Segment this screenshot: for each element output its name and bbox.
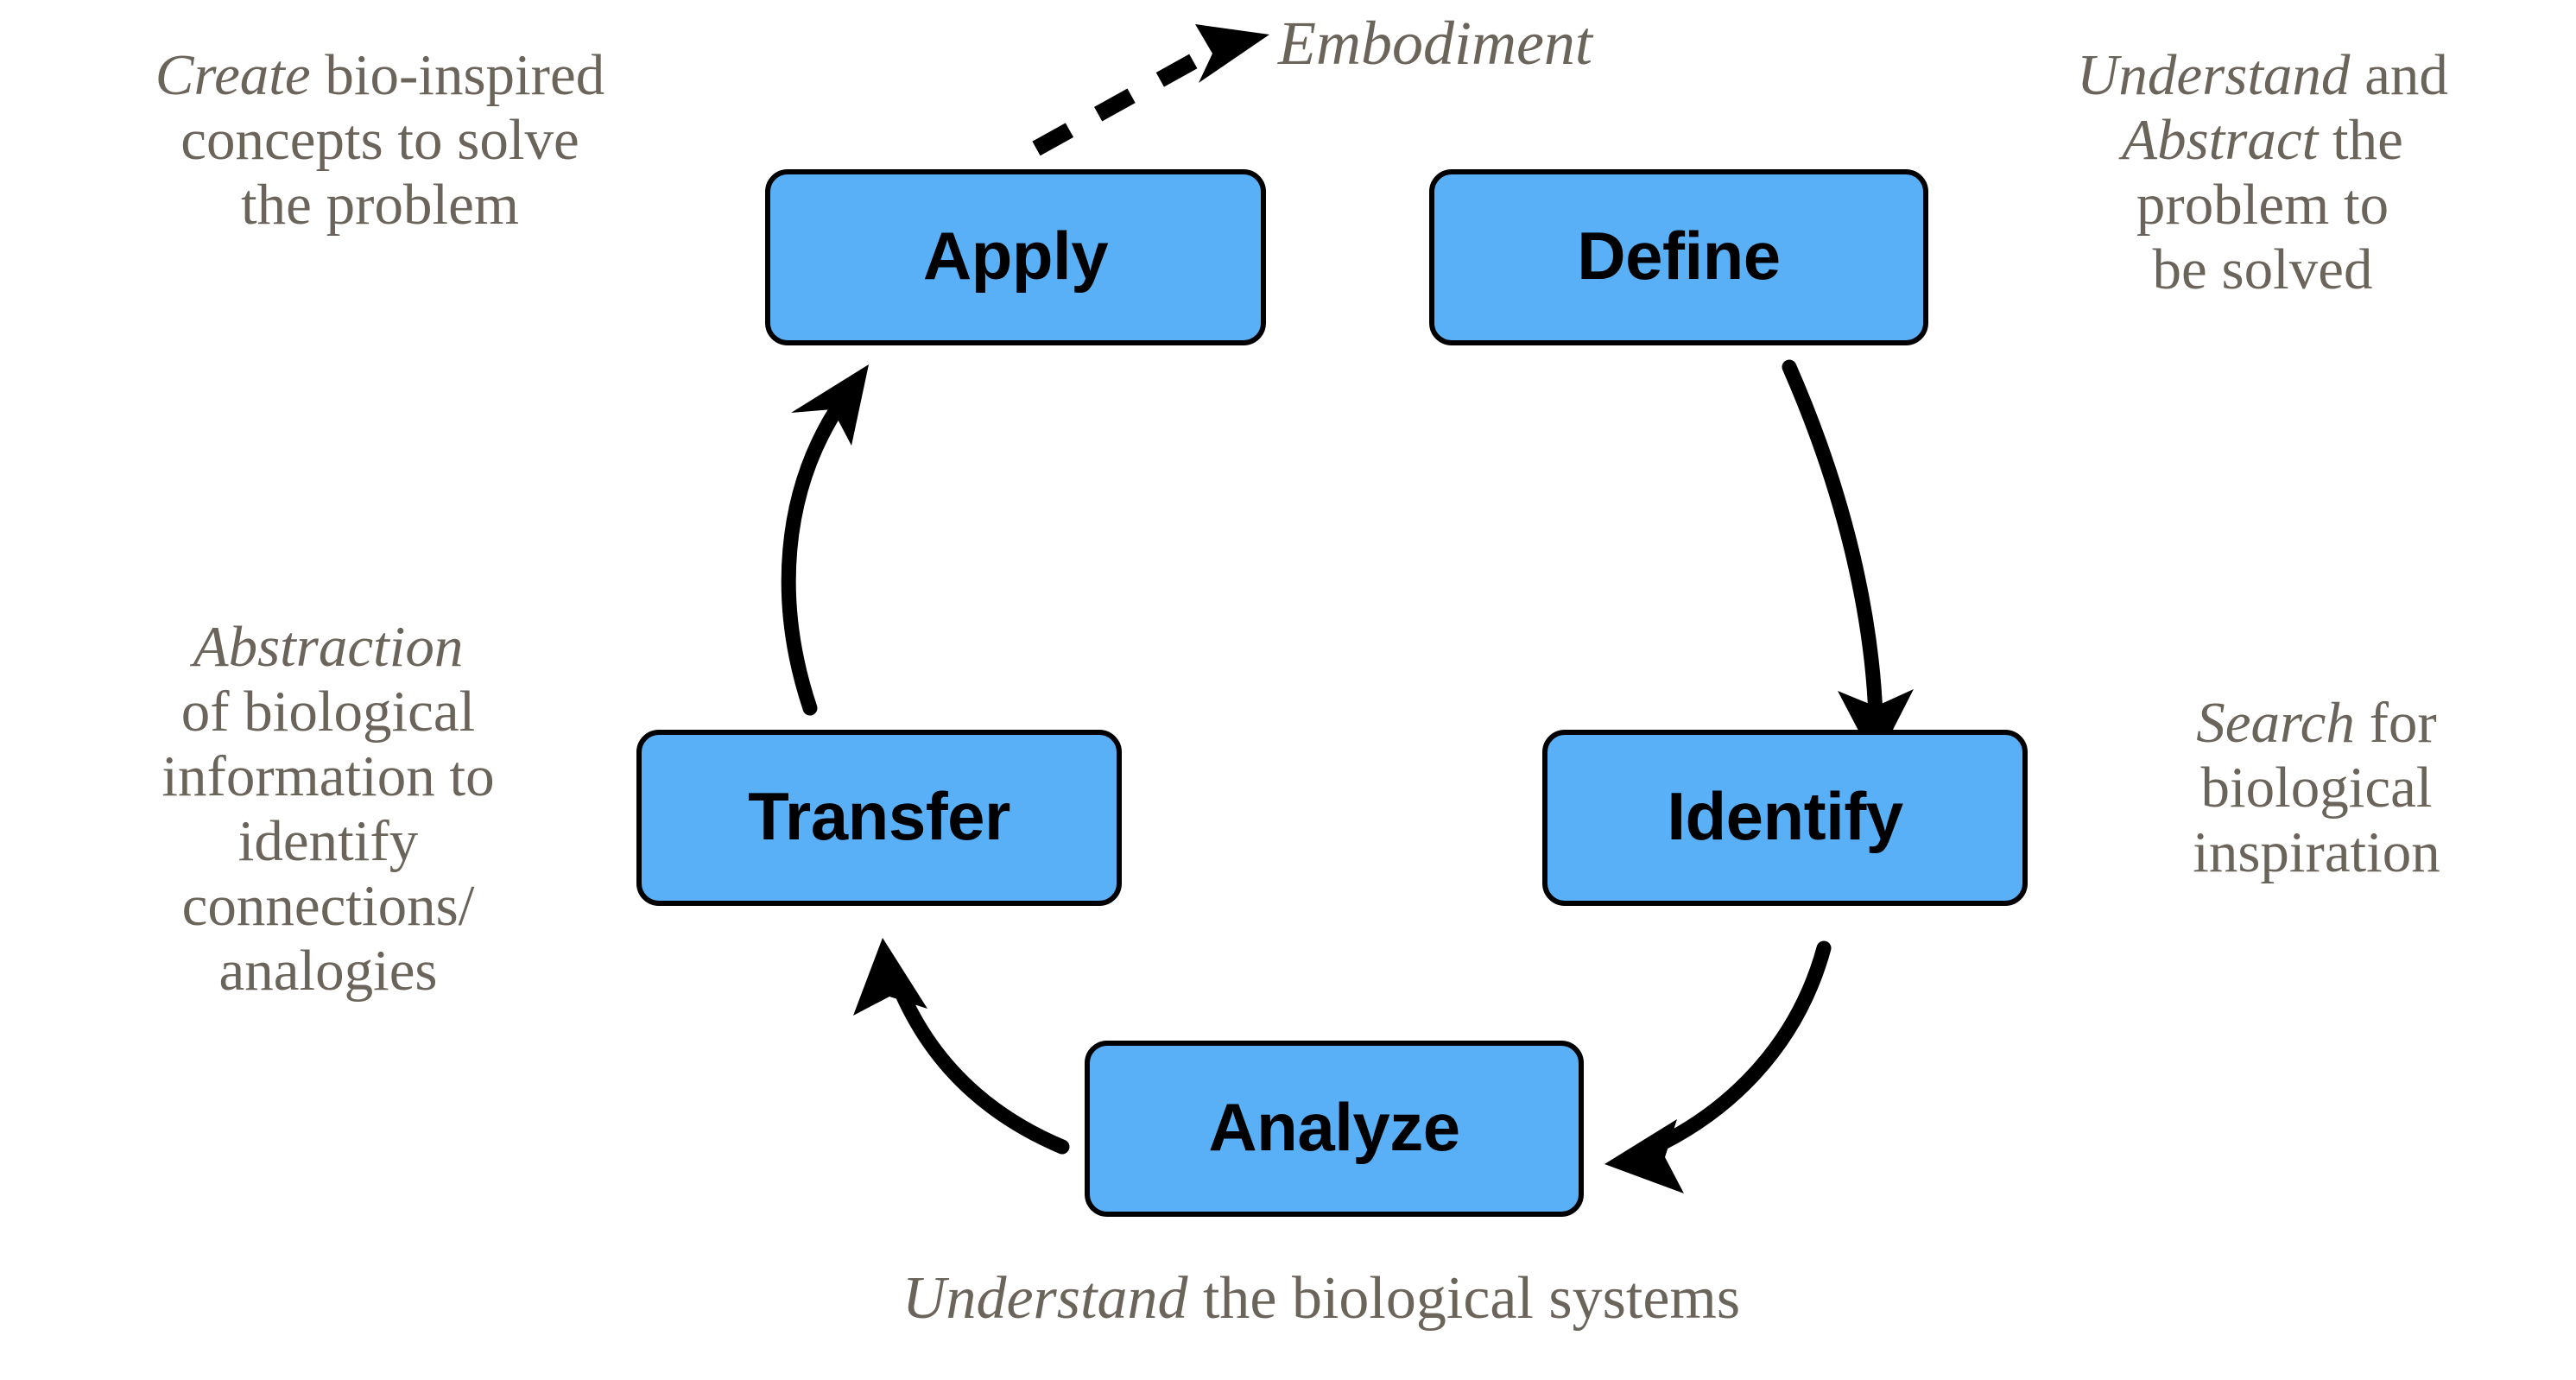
biomimicry-cycle-diagram: Apply Define Transfer Identify Analyze E… <box>0 0 2576 1380</box>
arrow-identify-to-analyze <box>1604 948 1824 1193</box>
node-transfer[interactable]: Transfer <box>636 730 1122 906</box>
node-transfer-label: Transfer <box>748 782 1010 850</box>
note-abstraction-emphasis: Abstraction <box>193 615 464 679</box>
note-search-emphasis: Search <box>2196 691 2355 755</box>
note-understand-biological-systems: Understand the biological systems <box>656 1265 1986 1333</box>
arrow-analyze-to-transfer <box>853 938 1062 1147</box>
note-embodiment: Embodiment <box>1278 9 1813 79</box>
note-create-bio-inspired: Create bio-inspired concepts to solve th… <box>9 43 751 237</box>
note-understand-abstract: Understand and Abstract the problem to b… <box>1956 43 2569 302</box>
note-abstract-emphasis: Abstract <box>2122 108 2318 172</box>
node-analyze-label: Analyze <box>1208 1093 1459 1161</box>
note-search-biological-inspiration: Search for biological inspiration <box>2064 691 2569 885</box>
note-understand-emphasis: Understand <box>2077 43 2350 107</box>
node-apply[interactable]: Apply <box>765 169 1266 345</box>
node-apply-label: Apply <box>923 222 1108 289</box>
arrow-apply-to-embodiment <box>1036 24 1269 149</box>
note-abstraction-rest: of biological information to identify co… <box>161 680 494 1003</box>
node-define-label: Define <box>1577 222 1780 289</box>
node-identify[interactable]: Identify <box>1542 730 2028 906</box>
node-define[interactable]: Define <box>1429 169 1928 345</box>
note-understand-mid: and <box>2350 43 2448 107</box>
note-bottom-emphasis: Understand <box>902 1265 1188 1332</box>
note-bottom-rest: the biological systems <box>1187 1265 1740 1332</box>
node-identify-label: Identify <box>1667 782 1902 850</box>
note-abstraction-of-biological: Abstraction of biological information to… <box>26 615 630 1003</box>
note-create-emphasis: Create <box>155 43 311 107</box>
arrow-define-to-identify <box>1789 367 1914 763</box>
node-analyze[interactable]: Analyze <box>1085 1041 1584 1217</box>
arrow-transfer-to-apply <box>788 364 869 708</box>
